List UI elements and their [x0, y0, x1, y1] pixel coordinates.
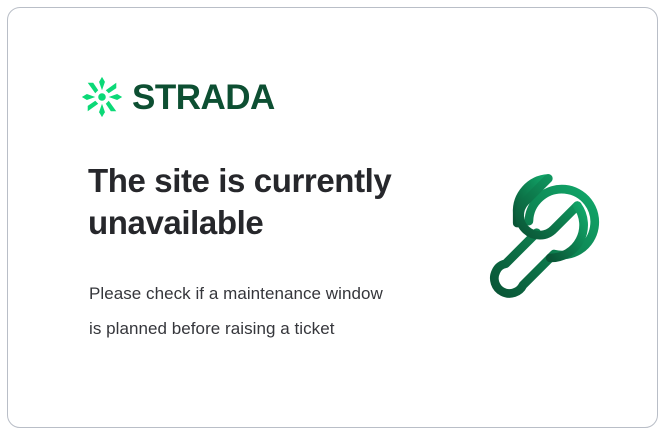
- status-description: Please check if a maintenance window is …: [89, 276, 389, 346]
- asterisk-star-icon: [81, 76, 123, 118]
- wrench-icon: [463, 163, 618, 318]
- brand-wordmark: STRADA: [132, 80, 275, 115]
- page-title: The site is currently unavailable: [88, 160, 418, 244]
- status-card: STRADA The site is currently unavailable…: [7, 7, 658, 428]
- page-root: STRADA The site is currently unavailable…: [0, 0, 666, 436]
- brand-logo: STRADA: [81, 76, 275, 118]
